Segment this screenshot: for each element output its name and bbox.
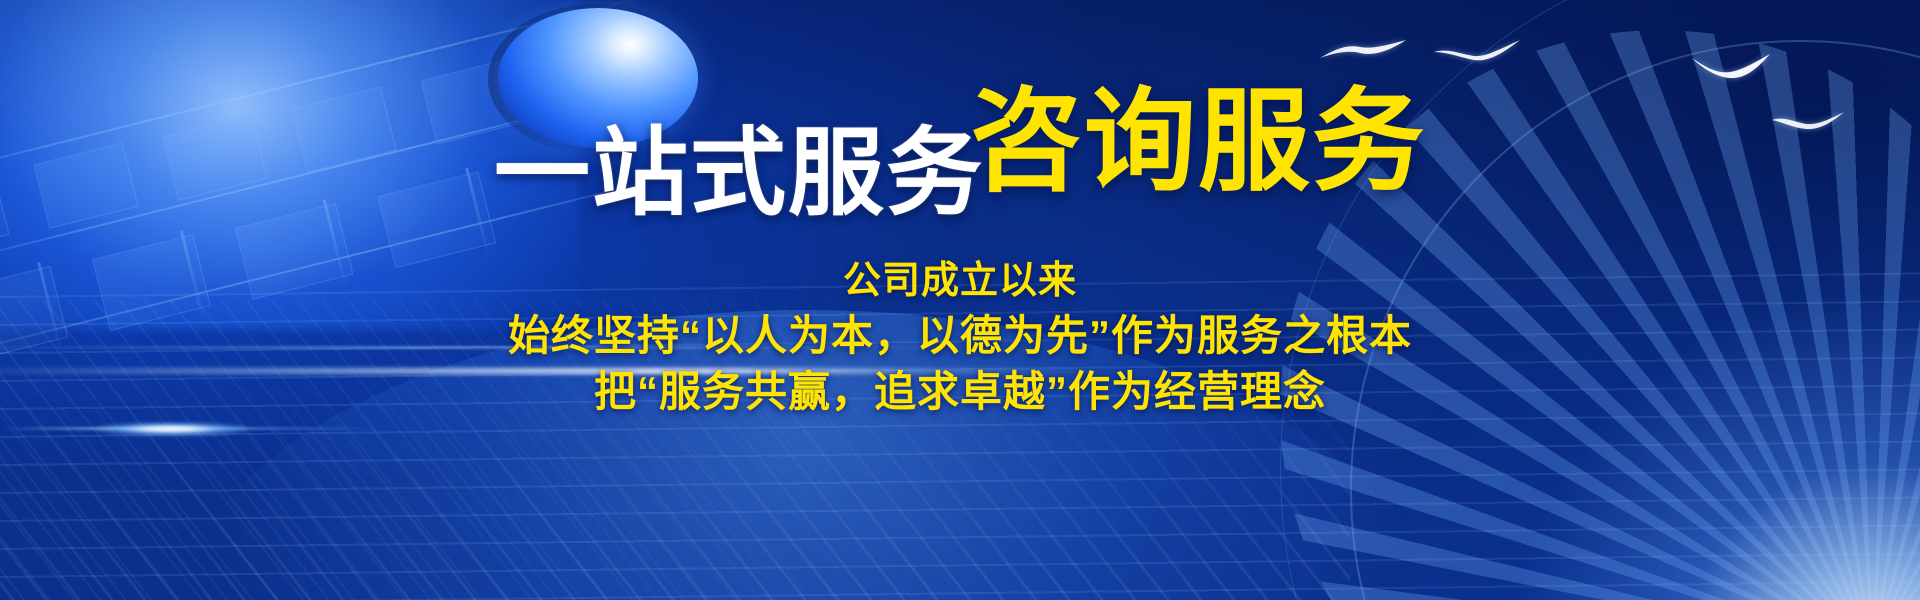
bird-icon <box>1432 38 1524 64</box>
bird-icon <box>1318 38 1410 64</box>
bird-icon <box>1690 52 1774 82</box>
promo-banner: 一站式服务咨询服务 公司成立以来 始终坚持“以人为本，以德为先”作为服务之根本 … <box>0 0 1920 600</box>
subtitle-block: 公司成立以来 始终坚持“以人为本，以德为先”作为服务之根本 把“服务共赢，追求卓… <box>0 258 1920 417</box>
subtitle-line-1: 公司成立以来 <box>0 258 1920 304</box>
headline-yellow-text: 咨询服务 <box>970 79 1426 204</box>
subtitle-line-3: 把“服务共赢，追求卓越”作为经营理念 <box>0 366 1920 417</box>
subtitle-line-2: 始终坚持“以人为本，以德为先”作为服务之根本 <box>0 310 1920 361</box>
headline-white-text: 一站式服务 <box>494 120 984 227</box>
headline: 一站式服务咨询服务 <box>0 86 1920 198</box>
lens-flare-icon <box>96 422 246 436</box>
